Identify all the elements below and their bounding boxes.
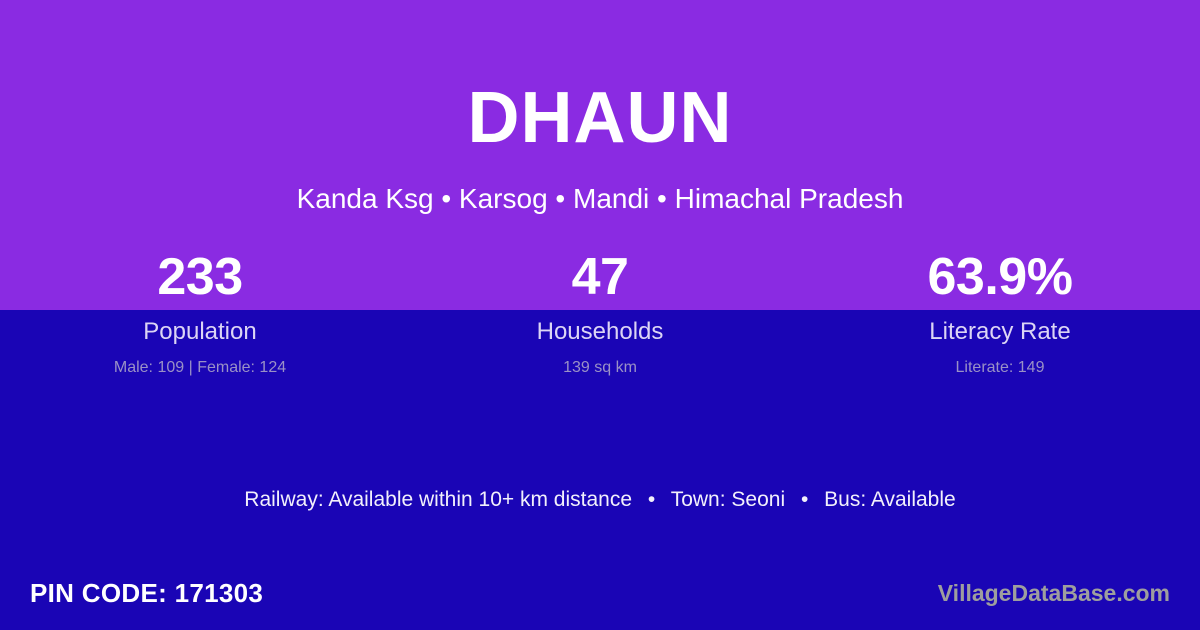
stat-label: Households — [400, 315, 800, 349]
page-title: DHAUN — [0, 82, 1200, 154]
footer: PIN CODE: 171303 VillageDataBase.com — [0, 556, 1200, 630]
stat-value: 63.9% — [800, 246, 1200, 308]
stat-literacy-rate: 63.9% Literacy Rate Literate: 149 — [800, 246, 1200, 379]
village-info-card: DHAUN Kanda Ksg • Karsog • Mandi • Himac… — [0, 0, 1200, 630]
site-branding: VillageDataBase.com — [938, 578, 1170, 608]
pin-code: PIN CODE: 171303 — [30, 578, 263, 608]
bullet-separator-icon: • — [791, 485, 818, 515]
stats-row: 233 Population Male: 109 | Female: 124 4… — [0, 246, 1200, 379]
location-breadcrumb: Kanda Ksg • Karsog • Mandi • Himachal Pr… — [0, 182, 1200, 216]
amenity-bus: Bus: Available — [824, 488, 956, 511]
stat-value: 47 — [400, 246, 800, 308]
stat-detail: Male: 109 | Female: 124 — [0, 357, 400, 379]
bullet-separator-icon: • — [638, 485, 665, 515]
amenity-town: Town: Seoni — [671, 488, 785, 511]
amenity-railway: Railway: Available within 10+ km distanc… — [244, 488, 632, 511]
stat-label: Literacy Rate — [800, 315, 1200, 349]
stat-value: 233 — [0, 246, 400, 308]
stat-label: Population — [0, 315, 400, 349]
stat-detail: 139 sq km — [400, 357, 800, 379]
stat-population: 233 Population Male: 109 | Female: 124 — [0, 246, 400, 379]
stat-households: 47 Households 139 sq km — [400, 246, 800, 379]
amenities-line: Railway: Available within 10+ km distanc… — [0, 485, 1200, 515]
stat-detail: Literate: 149 — [800, 357, 1200, 379]
